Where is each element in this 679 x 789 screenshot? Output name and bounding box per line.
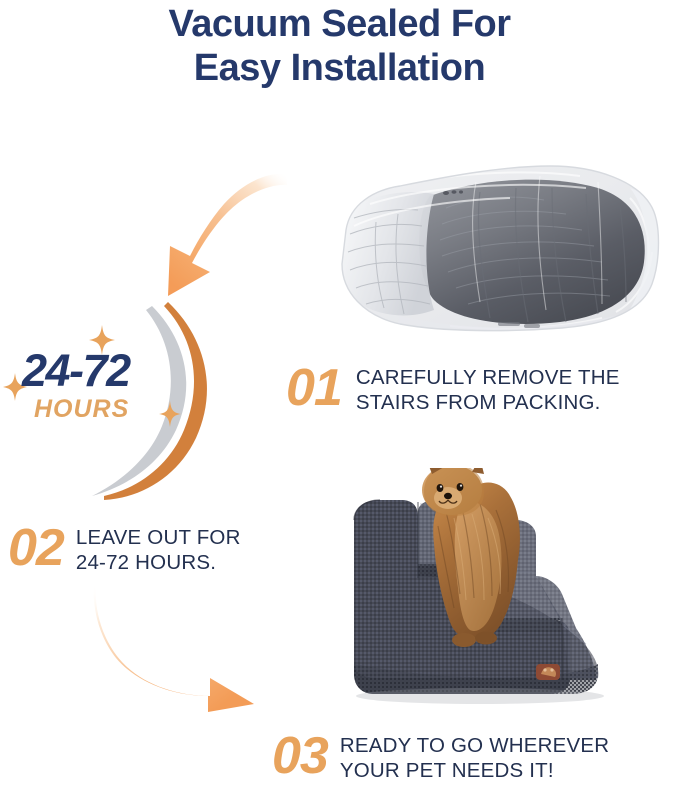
step-number-03: 03 [272, 730, 328, 782]
step-item-03: 03 READY TO GO WHEREVER YOUR PET NEEDS I… [272, 730, 609, 783]
duration-badge: 24-72 HOURS [0, 330, 260, 470]
step-text-01: CAREFULLY REMOVE THE STAIRS FROM PACKING… [356, 362, 620, 415]
brand-logo-badge [536, 664, 560, 680]
step-item-01: 01 CAREFULLY REMOVE THE STAIRS FROM PACK… [286, 362, 620, 415]
vacuum-sealed-package-photo [330, 152, 675, 342]
pet-stairs-with-dog-photo [340, 468, 675, 708]
duration-unit: HOURS [34, 396, 129, 422]
page-title-line-2: Easy Installation [0, 46, 679, 90]
step-text-03: READY TO GO WHEREVER YOUR PET NEEDS IT! [340, 730, 609, 783]
curved-arrow-down-left-icon [148, 168, 288, 303]
infographic-page: Vacuum Sealed For Easy Installation [0, 0, 679, 789]
step-number-02: 02 [8, 522, 64, 574]
step-number-01: 01 [286, 362, 342, 414]
duration-value: 24-72 [22, 348, 130, 393]
page-title: Vacuum Sealed For Easy Installation [0, 2, 679, 90]
step-item-02: 02 LEAVE OUT FOR 24-72 HOURS. [8, 522, 241, 575]
step-text-02: LEAVE OUT FOR 24-72 HOURS. [76, 522, 241, 575]
sparkle-star-right-icon [158, 400, 182, 428]
curved-arrow-down-right-icon [92, 578, 292, 718]
page-title-line-1: Vacuum Sealed For [0, 2, 679, 46]
